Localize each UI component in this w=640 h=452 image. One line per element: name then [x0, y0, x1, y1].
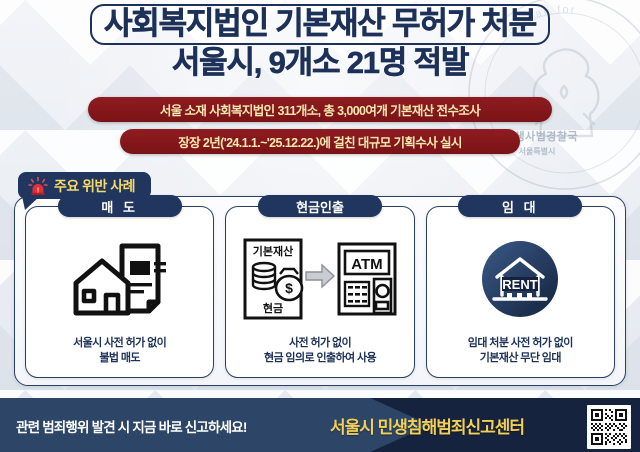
qr-code-icon[interactable] — [587, 405, 631, 449]
violation-card-cash[interactable]: 현금인출 기본재산 $ — [225, 206, 414, 378]
card-caption-cash: 사전 허가 없이 현금 임의로 인출하여 사용 — [258, 336, 382, 377]
footer-center-name: 서울시 민생침해범죄신고센터 — [330, 413, 524, 438]
poster-root: Bureau for 민생사법경찰국 서울특별시 사회복지법인 기본재산 무허가… — [0, 0, 640, 452]
section-header-label: 주요 위반 사례 — [54, 176, 135, 196]
title-line-2-box: 서울시, 9개소 21명 적발 — [0, 47, 640, 78]
card-title-cash: 현금인출 — [258, 195, 382, 217]
violation-cards: 매 도 — [14, 206, 626, 378]
footer-bar: 관련 범죄행위 발견 시 지금 바로 신고하세요! 서울시 민생침해범죄신고센터 — [0, 398, 640, 452]
card-caption-sale: 서울시 사전 허가 없이 불법 매도 — [67, 336, 172, 377]
svg-text:기본재산: 기본재산 — [253, 244, 293, 258]
card-caption-rent: 임대 처분 사전 허가 없이 기본재산 무단 임대 — [462, 336, 579, 377]
house-contract-icon — [26, 207, 213, 336]
section-header: ! 주요 위반 사례 — [18, 172, 151, 199]
svg-text:RENT: RENT — [503, 277, 538, 292]
violation-card-rent[interactable]: 임 대 RENT — [426, 206, 615, 378]
svg-text:현금: 현금 — [263, 301, 283, 315]
siren-icon: ! — [28, 177, 48, 195]
svg-text:$: $ — [285, 280, 293, 296]
card-title-rent: 임 대 — [458, 195, 582, 217]
page-title: 사회복지법인 기본재산 무허가 처분 서울시, 9개소 21명 적발 — [0, 4, 640, 78]
svg-text:ATM: ATM — [351, 256, 382, 273]
highlight-banner-1: 서울 소재 사회복지법인 311개소, 총 3,000여개 기본재산 전수조사 — [88, 97, 552, 122]
violation-card-sale[interactable]: 매 도 — [25, 206, 214, 378]
cash-to-atm-icon: 기본재산 $ 현금 — [226, 207, 413, 336]
title-line-1-box: 사회복지법인 기본재산 무허가 처분 — [90, 4, 550, 45]
footer-message: 관련 범죄행위 발견 시 지금 바로 신고하세요! — [16, 416, 247, 436]
highlight-banner-2: 장장 2년('24.1.1.~'25.12.22.)에 걸친 대규모 기획수사 … — [120, 129, 520, 154]
rent-building-icon: RENT — [427, 207, 614, 336]
svg-text:!: ! — [37, 187, 39, 194]
title-line-1: 사회복지법인 기본재산 무허가 처분 — [104, 6, 536, 41]
title-line-2: 서울시, 9개소 21명 적발 — [172, 45, 468, 80]
